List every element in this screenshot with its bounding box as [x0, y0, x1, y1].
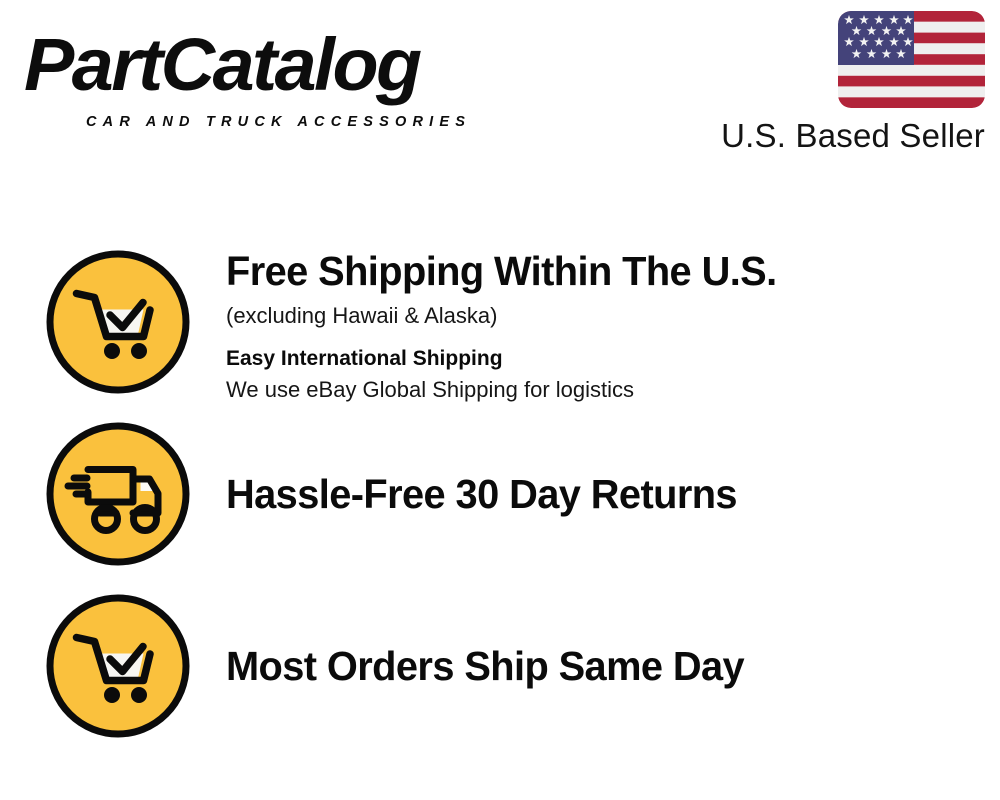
feature-text-block: Most Orders Ship Same Day [226, 592, 1000, 740]
us-flag-icon [838, 11, 985, 108]
feature-text-block: Hassle-Free 30 Day Returns [226, 420, 1000, 568]
brand-tagline: CAR AND TRUCK ACCESSORIES [86, 114, 471, 130]
page-header: PartCatalog CAR AND TRUCK ACCESSORIES [0, 0, 1000, 175]
feature-subtitle-note: We use eBay Global Shipping for logistic… [226, 375, 1000, 405]
feature-title: Hassle-Free 30 Day Returns [226, 471, 737, 517]
delivery-truck-icon [44, 420, 192, 568]
shopping-cart-check-icon [44, 592, 192, 740]
feature-row: Free Shipping Within The U.S. (excluding… [0, 248, 1000, 400]
shopping-cart-check-icon [44, 248, 192, 396]
feature-row: Hassle-Free 30 Day Returns [0, 420, 1000, 570]
feature-text-block: Free Shipping Within The U.S. (excluding… [226, 248, 1000, 405]
brand-wordmark: PartCatalog [24, 26, 420, 104]
feature-subtitle: (excluding Hawaii & Alaska) [226, 301, 1000, 331]
feature-title: Most Orders Ship Same Day [226, 643, 744, 689]
us-based-seller-label: U.S. Based Seller [721, 117, 985, 155]
feature-subtitle-bold: Easy International Shipping [226, 345, 1000, 373]
partcatalog-logo[interactable]: PartCatalog CAR AND TRUCK ACCESSORIES [24, 26, 494, 118]
feature-title: Free Shipping Within The U.S. [226, 248, 977, 294]
feature-row: Most Orders Ship Same Day [0, 592, 1000, 742]
